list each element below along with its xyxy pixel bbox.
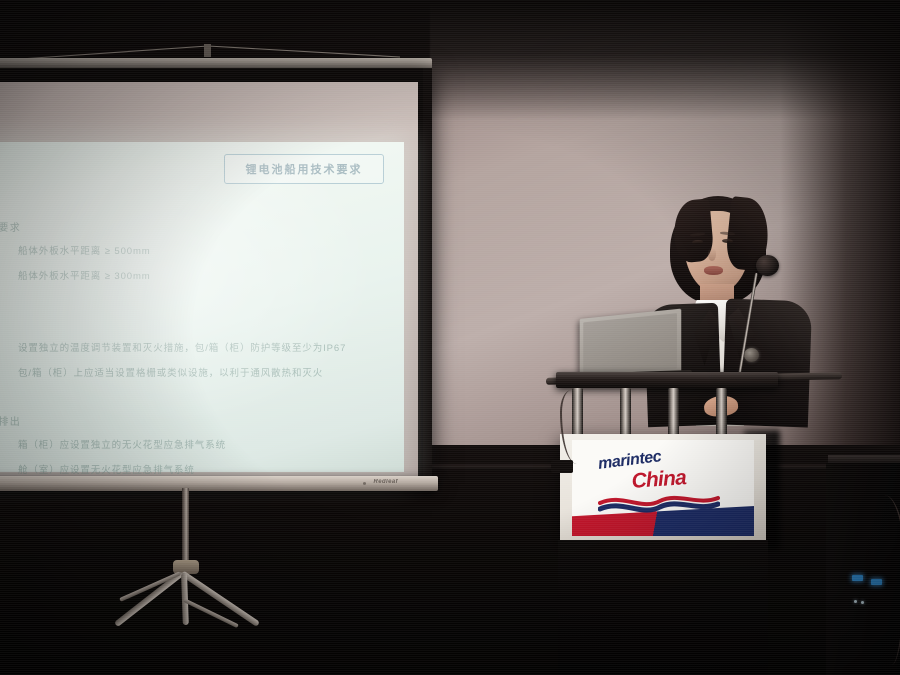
spacer [0, 390, 400, 403]
indicator-led [861, 601, 864, 604]
logo-oval-group: China [594, 468, 724, 512]
presentation-photo: 锂电池船用技术要求 的布置要求 ——舱室距离要求 ≥ 20m 船体外板水平距离 … [0, 0, 900, 675]
slide-heading: 的布置要求 [0, 186, 400, 205]
podium-front-panel: marintec China [560, 434, 766, 542]
laptop-screen [583, 313, 677, 373]
screen-brand-dot [363, 482, 366, 485]
row-condition: 等级为1 [0, 438, 18, 451]
spacer [0, 293, 400, 306]
projected-slide: 锂电池船用技术要求 的布置要求 ——舱室距离要求 ≥ 20m 船体外板水平距离 … [0, 142, 404, 472]
slide-section-2: 介质控制 [0, 316, 400, 331]
slide-content: 锂电池船用技术要求 的布置要求 ——舱室距离要求 ≥ 20m 船体外板水平距离 … [0, 142, 404, 472]
mouth [704, 266, 723, 275]
slide-row: ≥ 20m 船体外板水平距离 ≥ 500mm [0, 243, 400, 257]
slide-section-1: ——舱室距离要求 [0, 219, 400, 234]
screen-brand-label: Redleaf [374, 479, 398, 485]
gooseneck-microphone [742, 255, 802, 385]
podium-leg [716, 388, 727, 440]
row-value: 包/箱（柜）上应适当设置格栅或类似设施，以利于通风散热和灭火 [18, 365, 323, 379]
slide-row: 等级为2 舱（室）应设置无火花型应急排气系统 [0, 462, 400, 476]
row-condition: 等级为1 [0, 341, 18, 354]
row-condition: 等级为2 [0, 366, 18, 379]
slide-row: 等级为1 设置独立的温度调节装置和灭火措施，包/箱（柜）防护等级至少为IP67 [0, 340, 400, 354]
slide-row: 等级为2 包/箱（柜）上应适当设置格栅或类似设施，以利于通风散热和灭火 [0, 365, 400, 379]
marintec-china-logo: marintec China [572, 440, 754, 536]
slide-row: ＜ 20m 船体外板水平距离 ≥ 300mm [0, 268, 400, 282]
row-value: 箱（柜）应设置独立的无火花型应急排气系统 [18, 437, 226, 451]
nose [708, 248, 716, 261]
podium-leg-group [566, 388, 766, 440]
podium-base [558, 540, 768, 675]
screen-frame: 锂电池船用技术要求 的布置要求 ——舱室距离要求 ≥ 20m 船体外板水平距离 … [0, 68, 432, 480]
podium-leg [620, 388, 631, 440]
row-condition: ＜ 20m [0, 269, 18, 282]
slide-title-box: 锂电池船用技术要求 [224, 154, 384, 184]
projection-screen: 锂电池船用技术要求 的布置要求 ——舱室距离要求 ≥ 20m 船体外板水平距离 … [0, 58, 432, 490]
slide-title: 锂电池船用技术要求 [246, 164, 363, 176]
rack-cable [870, 495, 900, 665]
row-value: 设置独立的温度调节装置和灭火措施，包/箱（柜）防护等级至少为IP67 [18, 340, 346, 354]
podium-desktop [556, 372, 778, 388]
row-condition: ≥ 20m [0, 246, 18, 256]
cable-connector-box [551, 460, 573, 473]
row-value: 船体外板水平距离 ≥ 500mm [18, 243, 151, 257]
row-condition: 等级为2 [0, 463, 18, 476]
microphone-head [756, 255, 779, 276]
indicator-led [854, 600, 857, 603]
tripod-pole [182, 488, 189, 568]
podium-leg [668, 388, 679, 440]
row-value: 船体外板水平距离 ≥ 300mm [18, 268, 151, 282]
tripod-stand [118, 488, 278, 648]
podium: marintec China [556, 372, 778, 675]
slide-section-3: 气体的探测与排出 [0, 413, 400, 428]
laptop-lid [580, 309, 682, 378]
status-led [852, 575, 863, 581]
logo-wave-icon [598, 490, 720, 514]
row-value: 舱（室）应设置无火花型应急排气系统 [18, 462, 195, 476]
slide-body: 的布置要求 ——舱室距离要求 ≥ 20m 船体外板水平距离 ≥ 500mm ＜ … [0, 186, 400, 487]
slide-row: 等级为1 箱（柜）应设置独立的无火花型应急排气系统 [0, 437, 400, 451]
av-equipment-rack [826, 455, 900, 675]
